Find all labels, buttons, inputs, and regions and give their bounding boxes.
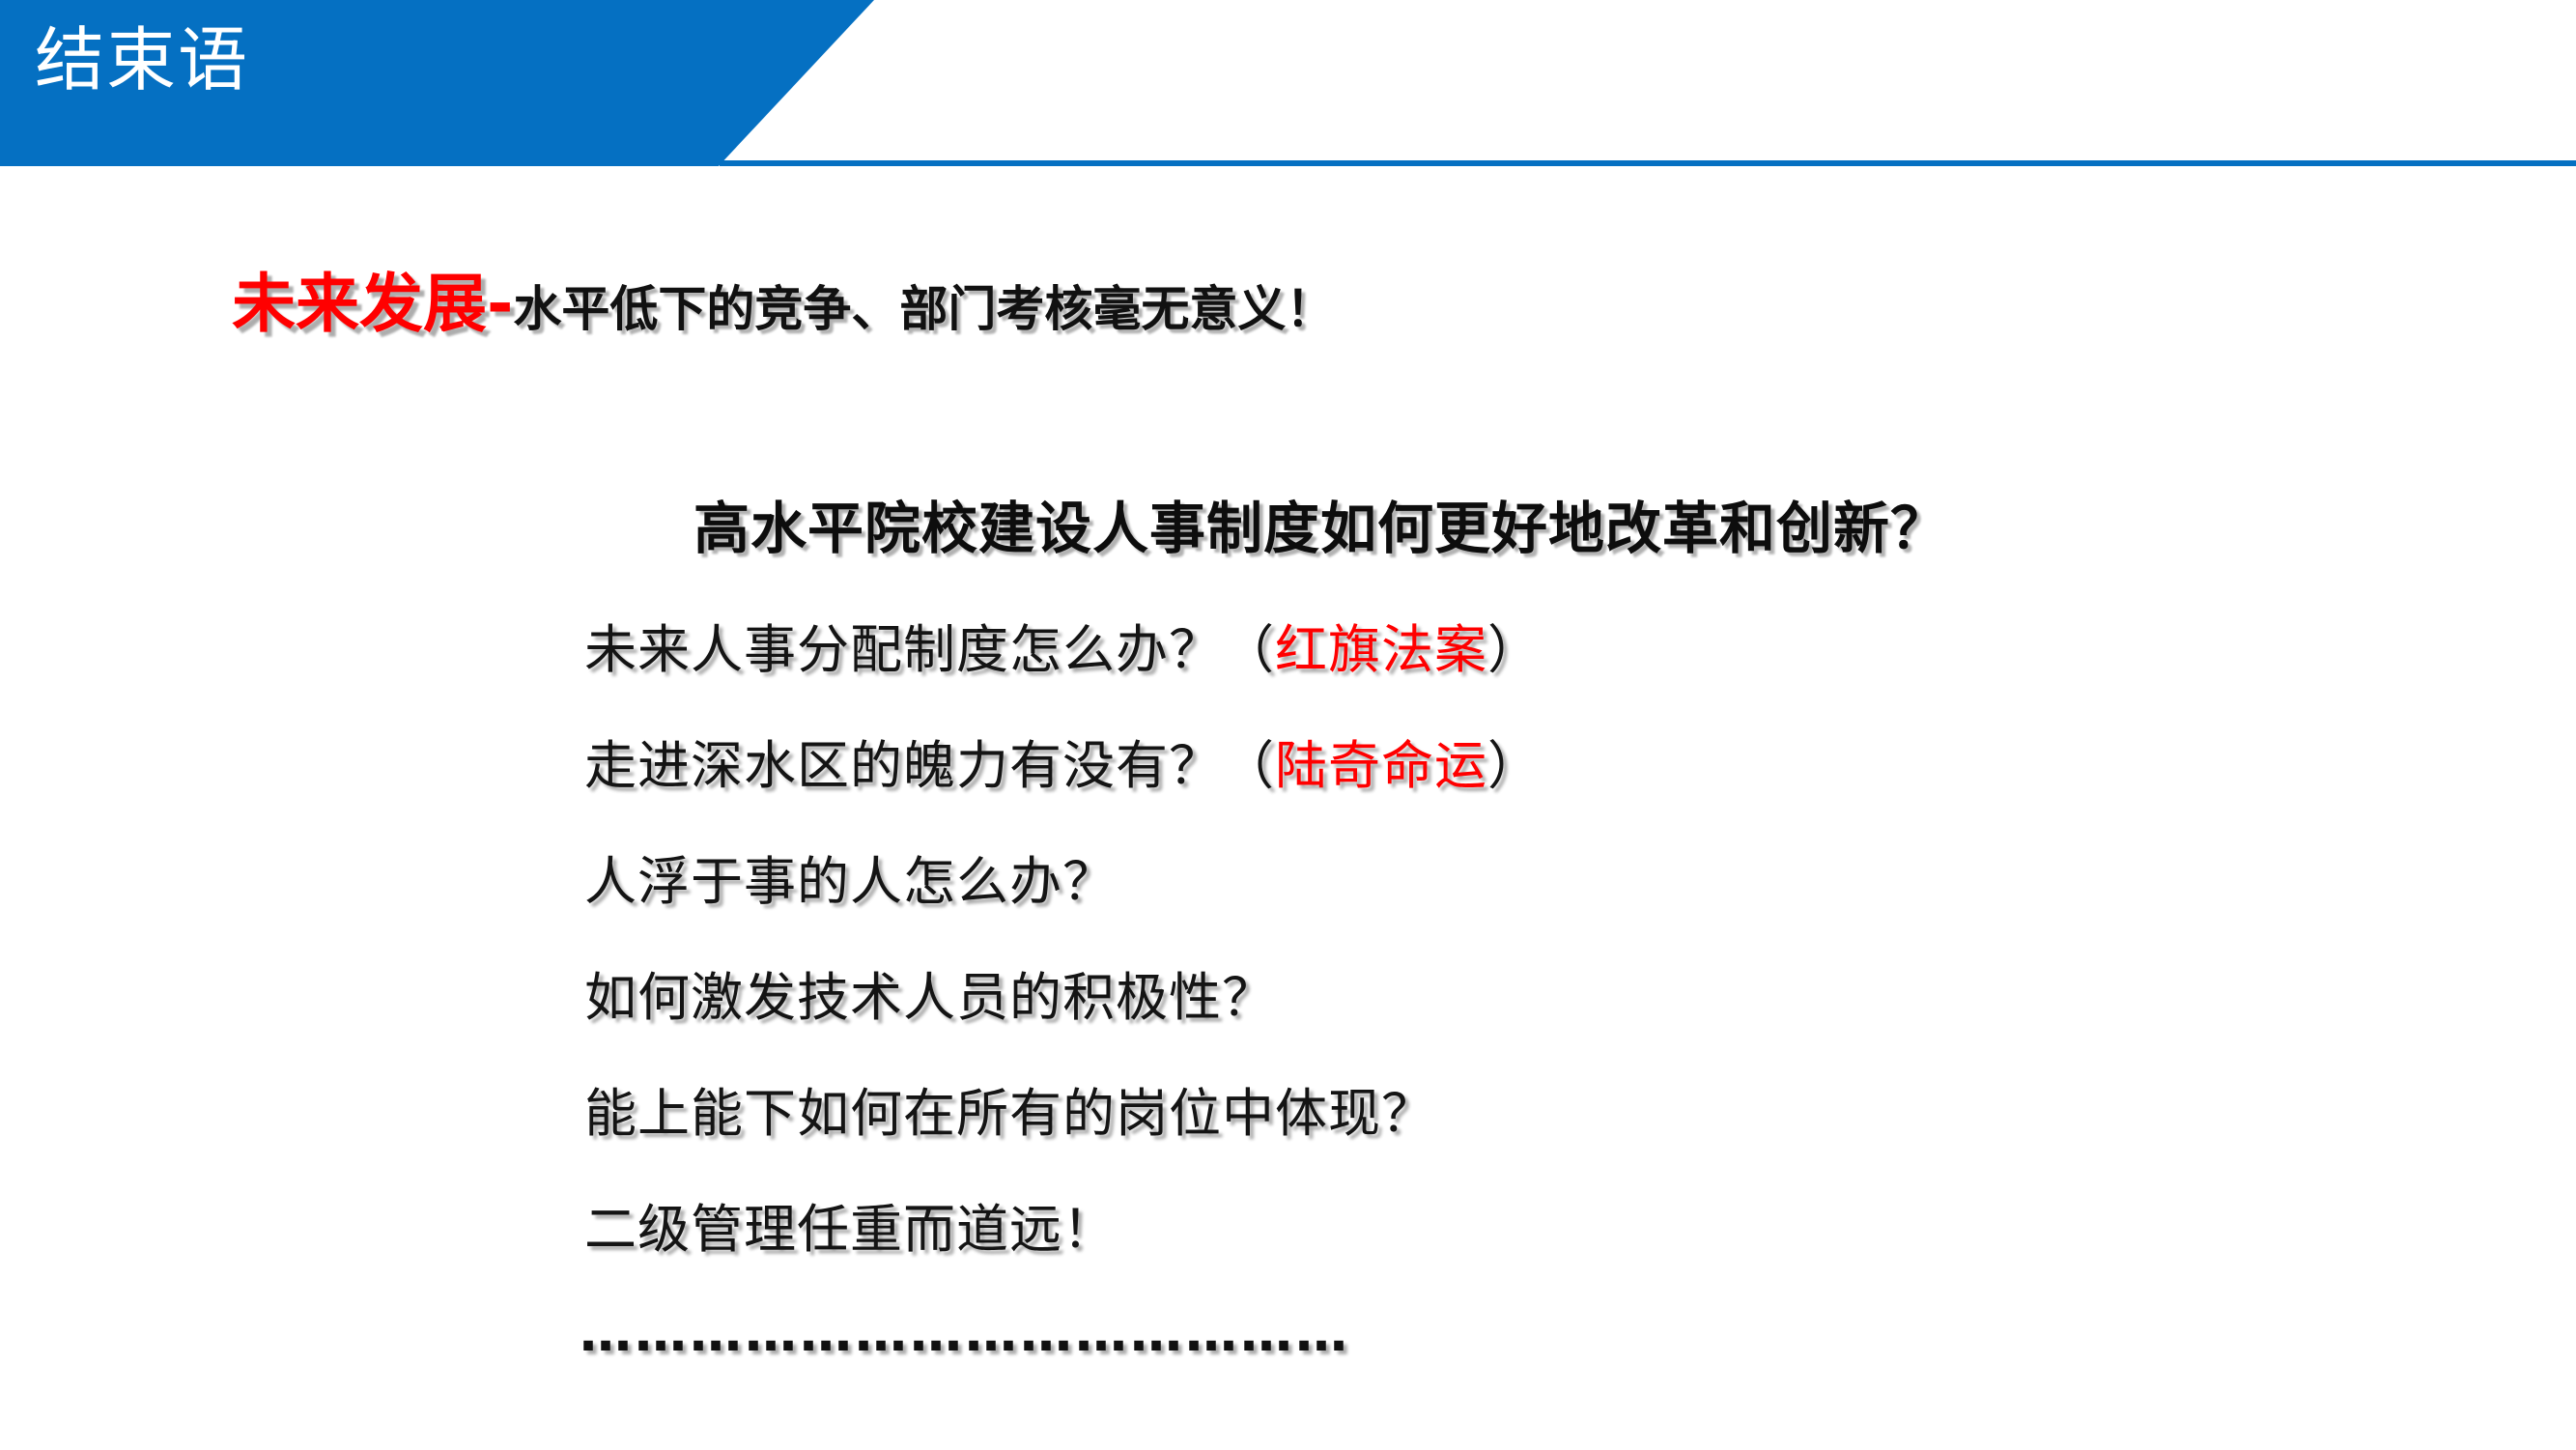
question-tail: ）: [1487, 619, 1541, 680]
slide-body: 未来发展-水平低下的竞争、部门考核毫无意义！ 高水平院校建设人事制度如何更好地改…: [0, 0, 2576, 1450]
list-item: 二级管理任重而道远！: [584, 1186, 1116, 1263]
question-accent: 陆奇命运: [1275, 735, 1487, 796]
list-item: 能上能下如何在所有的岗位中体现？: [584, 1070, 1434, 1147]
ellipsis-line: ……………………………………: [580, 1302, 1350, 1363]
lead-statement: 未来发展-水平低下的竞争、部门考核毫无意义！: [232, 272, 1334, 336]
question-accent: 红旗法案: [1275, 619, 1487, 680]
question-tail: ）: [1487, 735, 1541, 796]
list-item: 未来人事分配制度怎么办？（红旗法案）: [584, 607, 1541, 683]
section-heading: 高水平院校建设人事制度如何更好地改革和创新？: [694, 483, 1947, 564]
question-text: 如何激发技术人员的积极性？: [584, 967, 1275, 1028]
lead-emphasis-text: 未来发展-: [232, 267, 513, 341]
list-item: 人浮于事的人怎么办？: [584, 839, 1116, 915]
slide-canvas: 结束语 未来发展-水平低下的竞争、部门考核毫无意义！ 高水平院校建设人事制度如何…: [0, 0, 2576, 1450]
list-item: 走进深水区的魄力有没有？（陆奇命运）: [584, 723, 1541, 799]
question-text: 未来人事分配制度怎么办？（: [584, 619, 1275, 680]
lead-rest-text: 水平低下的竞争、部门考核毫无意义！: [513, 281, 1334, 337]
question-text: 能上能下如何在所有的岗位中体现？: [584, 1083, 1434, 1144]
question-text: 走进深水区的魄力有没有？（: [584, 735, 1275, 796]
question-text: 二级管理任重而道远！: [584, 1199, 1116, 1260]
list-item: 如何激发技术人员的积极性？: [584, 954, 1275, 1031]
question-text: 人浮于事的人怎么办？: [584, 851, 1116, 912]
